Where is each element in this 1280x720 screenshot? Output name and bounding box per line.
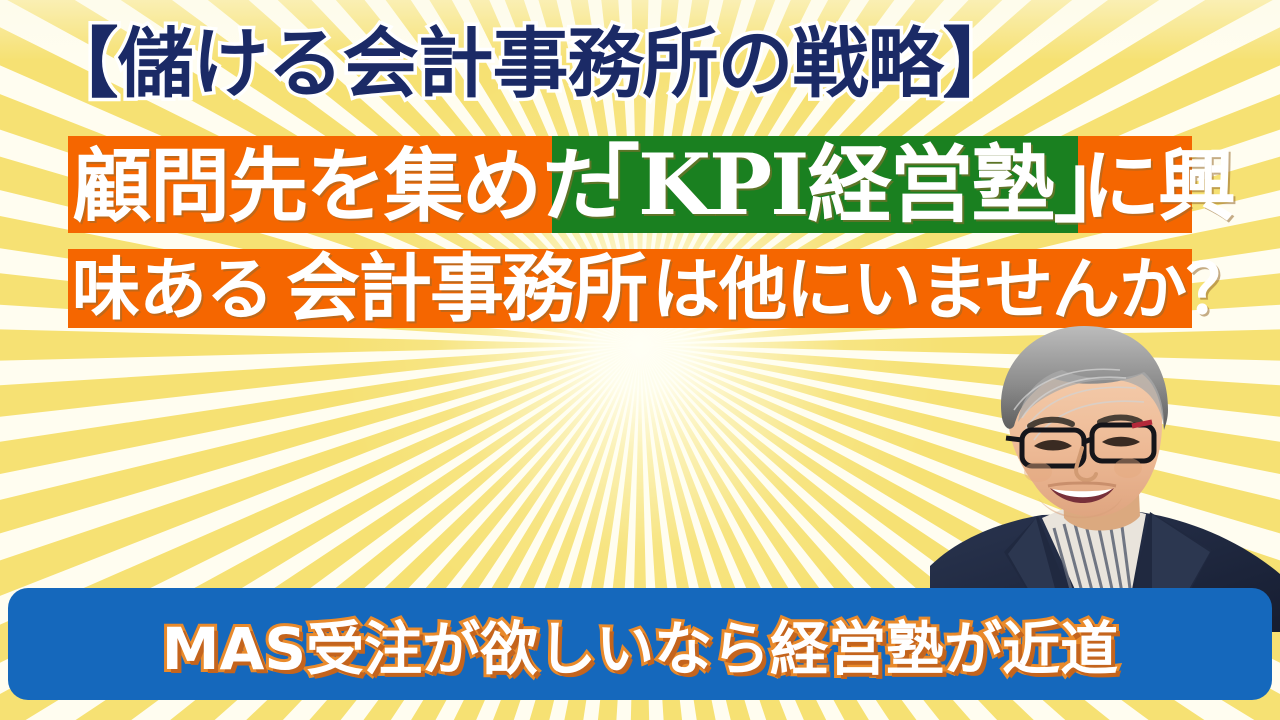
subtitle-line1-part2-kpi: 「KPI経営塾」: [556, 143, 1135, 227]
slide-canvas: 【儲ける会計事務所の戦略】 顧問先を集めた 「KPI経営塾」 に興 味ある 会計…: [0, 0, 1280, 720]
subtitle-line2-part3: は他にいませんか？: [652, 256, 1253, 324]
subtitle-line1-part1: 顧問先を集めた: [72, 146, 618, 226]
bottom-banner: MAS受注が欲しいなら経営塾が近道: [8, 588, 1272, 700]
subtitle-line2-part2: 会計事務所: [286, 252, 646, 326]
presenter-photo: [930, 322, 1280, 632]
banner-headline: MAS受注が欲しいなら経営塾が近道: [162, 602, 1118, 686]
subtitle-line1-part3: に興: [1082, 148, 1234, 226]
subtitle-line2-part1: 味ある: [72, 256, 273, 324]
page-title: 【儲ける会計事務所の戦略】: [0, 24, 1060, 105]
